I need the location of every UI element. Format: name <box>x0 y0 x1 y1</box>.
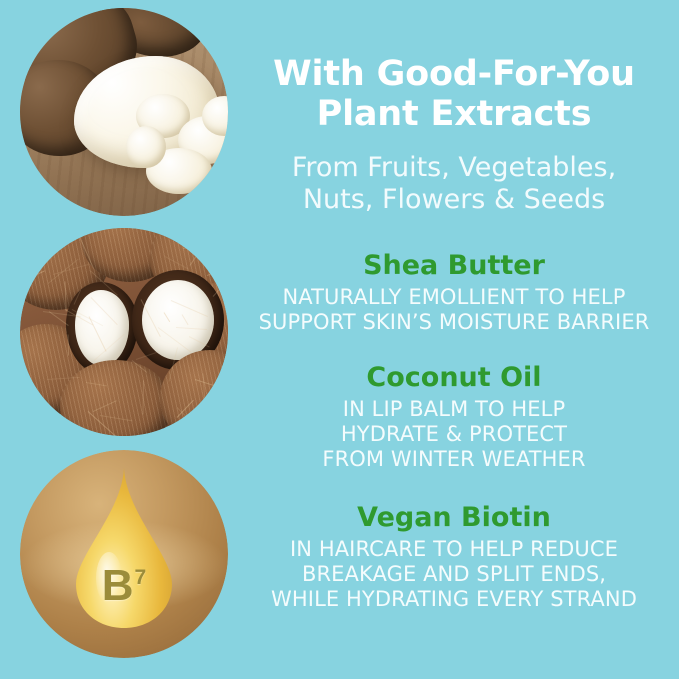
ingredient-block-vegan-biotin: Vegan Biotin IN HAIRCARE TO HELP REDUCE … <box>248 503 660 612</box>
ingredient-description-line: IN HAIRCARE TO HELP REDUCE <box>248 537 660 562</box>
biotin-scene: B7 <box>20 450 228 658</box>
headline-line-1: With Good-For-You <box>248 55 660 95</box>
text-column: With Good-For-You Plant Extracts From Fr… <box>248 0 660 679</box>
ingredient-description-line: IN LIP BALM TO HELP <box>248 397 660 422</box>
ingredient-description: IN HAIRCARE TO HELP REDUCE BREAKAGE AND … <box>248 537 660 613</box>
subheadline-line-1: From Fruits, Vegetables, <box>248 152 660 184</box>
subheadline-line-2: Nuts, Flowers & Seeds <box>248 184 660 216</box>
ingredient-description-line: BREAKAGE AND SPLIT ENDS, <box>248 562 660 587</box>
ingredient-name: Coconut Oil <box>248 363 660 393</box>
headline: With Good-For-You Plant Extracts <box>248 55 660 134</box>
biotin-letter: B <box>102 561 134 610</box>
ingredient-block-coconut-oil: Coconut Oil IN LIP BALM TO HELP HYDRATE … <box>248 363 660 472</box>
plant-extracts-infographic: B7 With Good-For-You Plant Extracts From… <box>0 0 679 679</box>
ingredient-description-line: NATURALLY EMOLLIENT TO HELP <box>248 285 660 310</box>
ingredient-description-line: WHILE HYDRATING EVERY STRAND <box>248 587 660 612</box>
biotin-b7-label: B7 <box>76 564 172 608</box>
ingredient-description: NATURALLY EMOLLIENT TO HELP SUPPORT SKIN… <box>248 285 660 335</box>
subheadline: From Fruits, Vegetables, Nuts, Flowers &… <box>248 152 660 216</box>
ingredient-name: Shea Butter <box>248 251 660 281</box>
butter-lump <box>126 126 166 168</box>
coconut-fiber <box>209 268 223 270</box>
ingredient-description-line: FROM WINTER WEATHER <box>248 447 660 472</box>
coconut-meat-right <box>142 280 214 360</box>
biotin-droplet-graphic: B7 <box>20 450 228 658</box>
headline-line-2: Plant Extracts <box>248 95 660 135</box>
ingredient-description-line: HYDRATE & PROTECT <box>248 422 660 447</box>
biotin-superscript: 7 <box>135 566 147 589</box>
ingredient-description-line: SUPPORT SKIN’S MOISTURE BARRIER <box>248 310 660 335</box>
shea-butter-scene <box>20 8 228 216</box>
coconut-husk <box>60 360 172 436</box>
ingredient-block-shea-butter: Shea Butter NATURALLY EMOLLIENT TO HELP … <box>248 251 660 335</box>
coconut-photo <box>20 228 228 436</box>
coconut-scene <box>20 228 228 436</box>
ingredient-description: IN LIP BALM TO HELP HYDRATE & PROTECT FR… <box>248 397 660 473</box>
ingredient-name: Vegan Biotin <box>248 503 660 533</box>
oil-droplet-icon: B7 <box>76 468 172 628</box>
shea-butter-photo <box>20 8 228 216</box>
